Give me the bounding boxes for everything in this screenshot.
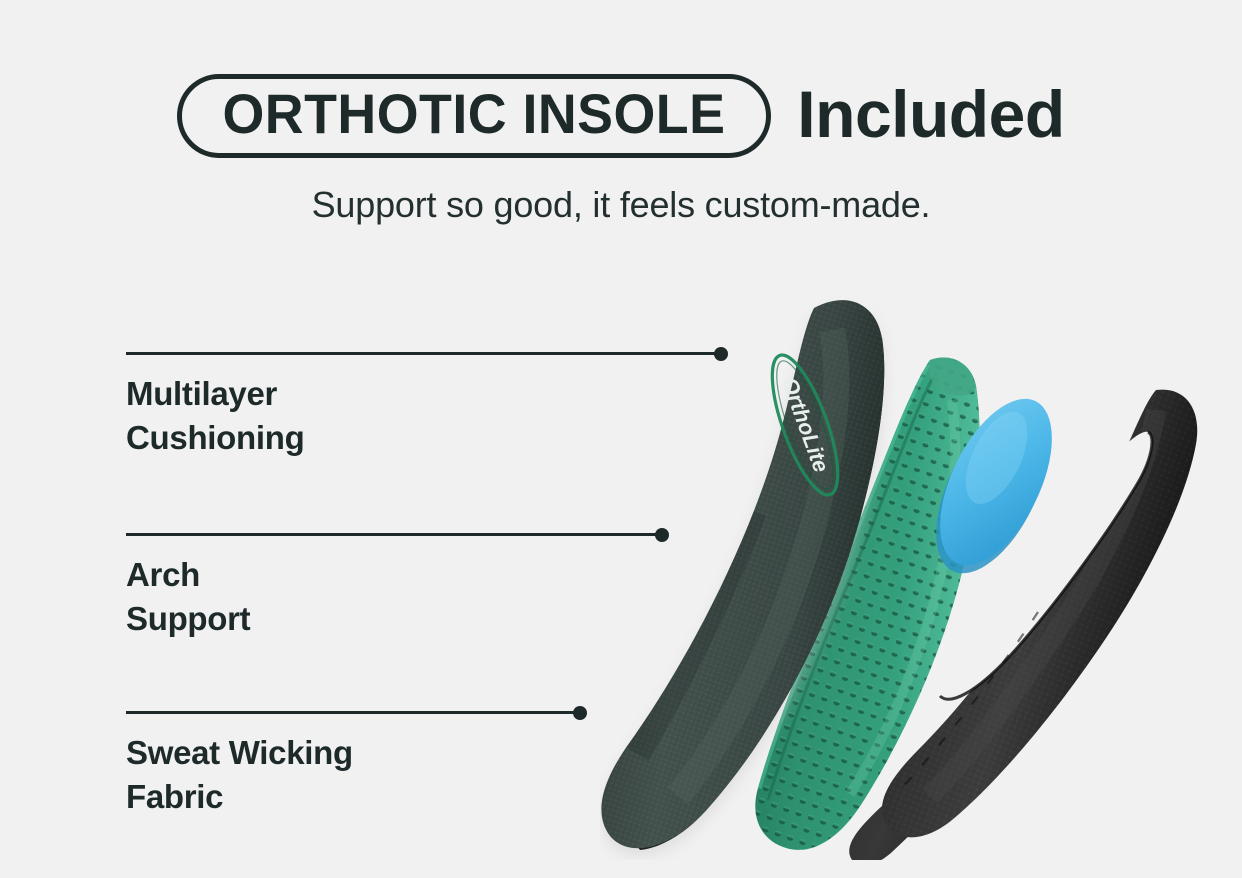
- header: ORTHOTIC INSOLE Included Support so good…: [0, 74, 1242, 226]
- leader-line: [126, 533, 662, 536]
- feature-callout-sweat-wicking-fabric: Sweat Wicking Fabric: [126, 711, 580, 819]
- orthotic-insole-badge: ORTHOTIC INSOLE: [177, 74, 771, 158]
- subtitle: Support so good, it feels custom-made.: [0, 184, 1242, 226]
- headline-row: ORTHOTIC INSOLE Included: [0, 74, 1242, 158]
- product-image: OrthoLite: [600, 260, 1242, 860]
- feature-label: Sweat Wicking Fabric: [126, 731, 580, 819]
- infographic-canvas: ORTHOTIC INSOLE Included Support so good…: [0, 0, 1242, 878]
- feature-callout-arch-support: Arch Support: [126, 533, 662, 641]
- headline-suffix: Included: [797, 81, 1064, 151]
- leader-line: [126, 711, 580, 714]
- leader-dot: [573, 706, 587, 720]
- feature-label: Arch Support: [126, 553, 662, 641]
- badge-label: ORTHOTIC INSOLE: [223, 86, 726, 142]
